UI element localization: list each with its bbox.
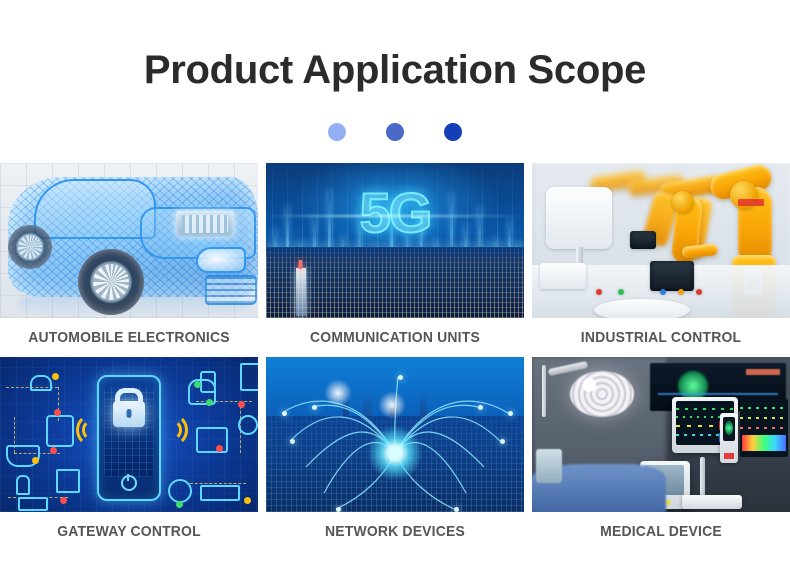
lamp-icon <box>16 475 30 495</box>
control-screen-2 <box>630 231 656 249</box>
page-title: Product Application Scope <box>0 48 790 92</box>
surgical-lamp <box>570 371 634 417</box>
node-red-1 <box>54 409 61 416</box>
node-red-2 <box>50 447 57 454</box>
network-node-5 <box>478 405 483 410</box>
car-cabin <box>34 179 156 239</box>
card-industrial-control[interactable]: INDUSTRIAL CONTROL <box>532 163 790 357</box>
control-screen-1 <box>650 261 694 291</box>
network-node-2 <box>312 405 317 410</box>
thumbnail-network-devices[interactable] <box>266 357 524 512</box>
washer-icon <box>46 415 74 447</box>
connection-line-7 <box>190 483 246 484</box>
car-rear-wheel <box>8 225 52 269</box>
node-amber-2 <box>32 457 39 464</box>
printer-icon <box>196 427 228 453</box>
landmark-tower <box>296 268 306 316</box>
right-monitor-screen <box>740 399 788 457</box>
smart-home-image <box>0 357 258 512</box>
indicator-blue <box>660 289 666 295</box>
network-node-3 <box>290 439 295 444</box>
infusion-pump <box>720 413 738 463</box>
card-label-medical-device: MEDICAL DEVICE <box>541 512 781 551</box>
node-green-1 <box>194 381 201 388</box>
indicator-amber <box>678 289 684 295</box>
card-medical-device[interactable]: MEDICAL DEVICE <box>532 357 790 551</box>
thumbnail-communication-units[interactable]: 5G <box>266 163 524 318</box>
pagination-dot-2[interactable] <box>386 123 404 141</box>
node-red-5 <box>216 445 223 452</box>
operating-room-image <box>532 357 790 512</box>
water-heater-icon <box>200 371 216 393</box>
machine-enclosure <box>546 187 612 249</box>
iv-pole <box>542 365 546 417</box>
card-network-devices[interactable]: NETWORK DEVICES <box>266 357 524 551</box>
network-node-4 <box>398 375 403 380</box>
page-header: Product Application Scope <box>0 0 790 163</box>
node-amber-3 <box>244 497 251 504</box>
network-node-1 <box>282 411 287 416</box>
card-label-communication-units: COMMUNICATION UNITS <box>275 318 515 357</box>
padlock-icon <box>113 401 145 427</box>
coffee-maker-icon <box>56 469 80 493</box>
router-icon <box>18 497 48 511</box>
turntable <box>594 299 690 318</box>
network-city-image <box>266 357 524 512</box>
car-front-wheel <box>78 249 144 315</box>
pagination-dot-3[interactable] <box>444 123 462 141</box>
car-grille <box>205 275 257 305</box>
tower-beam-2 <box>378 391 406 419</box>
card-label-industrial-control: INDUSTRIAL CONTROL <box>541 318 781 357</box>
horizon-glow-line <box>266 215 524 217</box>
xray-car-image <box>0 163 258 318</box>
panel-icon <box>240 363 258 391</box>
thumbnail-automobile-electronics[interactable] <box>0 163 258 318</box>
application-grid: AUTOMOBILE ELECTRONICS <box>0 163 790 551</box>
thermostat-icon <box>238 415 258 435</box>
node-green-2 <box>206 399 213 406</box>
card-communication-units[interactable]: 5G COMMUNICATION UNITS <box>266 163 524 357</box>
right-trace-1 <box>740 407 788 409</box>
wall-equipment <box>536 449 562 483</box>
node-red-4 <box>238 401 245 408</box>
control-panel-2 <box>540 263 586 289</box>
set-top-box-icon <box>200 485 240 501</box>
fan-icon <box>168 479 192 503</box>
thumbnail-industrial-control[interactable] <box>532 163 790 318</box>
card-label-automobile-electronics: AUTOMOBILE ELECTRONICS <box>9 318 249 357</box>
network-node-6 <box>508 411 513 416</box>
thumbnail-gateway-control[interactable] <box>0 357 258 512</box>
indicator-red <box>596 289 602 295</box>
5g-city-image: 5G <box>266 163 524 318</box>
card-label-gateway-control: GATEWAY CONTROL <box>9 512 249 551</box>
right-trace-3 <box>740 427 788 429</box>
indicator-red-2 <box>696 289 702 295</box>
shower-icon <box>30 375 52 391</box>
robot-arms-image <box>532 163 790 318</box>
thumbnail-medical-device[interactable] <box>532 357 790 512</box>
right-trace-2 <box>740 417 788 419</box>
power-icon <box>121 475 137 491</box>
tower-beam-1 <box>324 379 352 407</box>
robot-brand-label <box>738 199 764 206</box>
car-engine-block <box>176 211 234 237</box>
indicator-green <box>618 289 624 295</box>
node-green-3 <box>176 501 183 508</box>
card-gateway-control[interactable]: GATEWAY CONTROL <box>0 357 258 551</box>
node-red-3 <box>60 497 67 504</box>
robot-joint-second <box>672 191 694 213</box>
network-core-glow <box>368 426 422 480</box>
pagination-dot-1[interactable] <box>328 123 346 141</box>
product-application-scope-page: Product Application Scope <box>0 0 790 567</box>
pagination-dots <box>0 123 790 141</box>
network-node-7 <box>500 439 505 444</box>
car-headlight <box>196 247 246 273</box>
card-automobile-electronics[interactable]: AUTOMOBILE ELECTRONICS <box>0 163 258 357</box>
ecg-trace-green <box>676 408 734 410</box>
node-amber-1 <box>52 373 59 380</box>
equipment-cart <box>682 495 742 509</box>
5g-overlay-text: 5G <box>266 185 524 241</box>
card-label-network-devices: NETWORK DEVICES <box>275 512 515 551</box>
